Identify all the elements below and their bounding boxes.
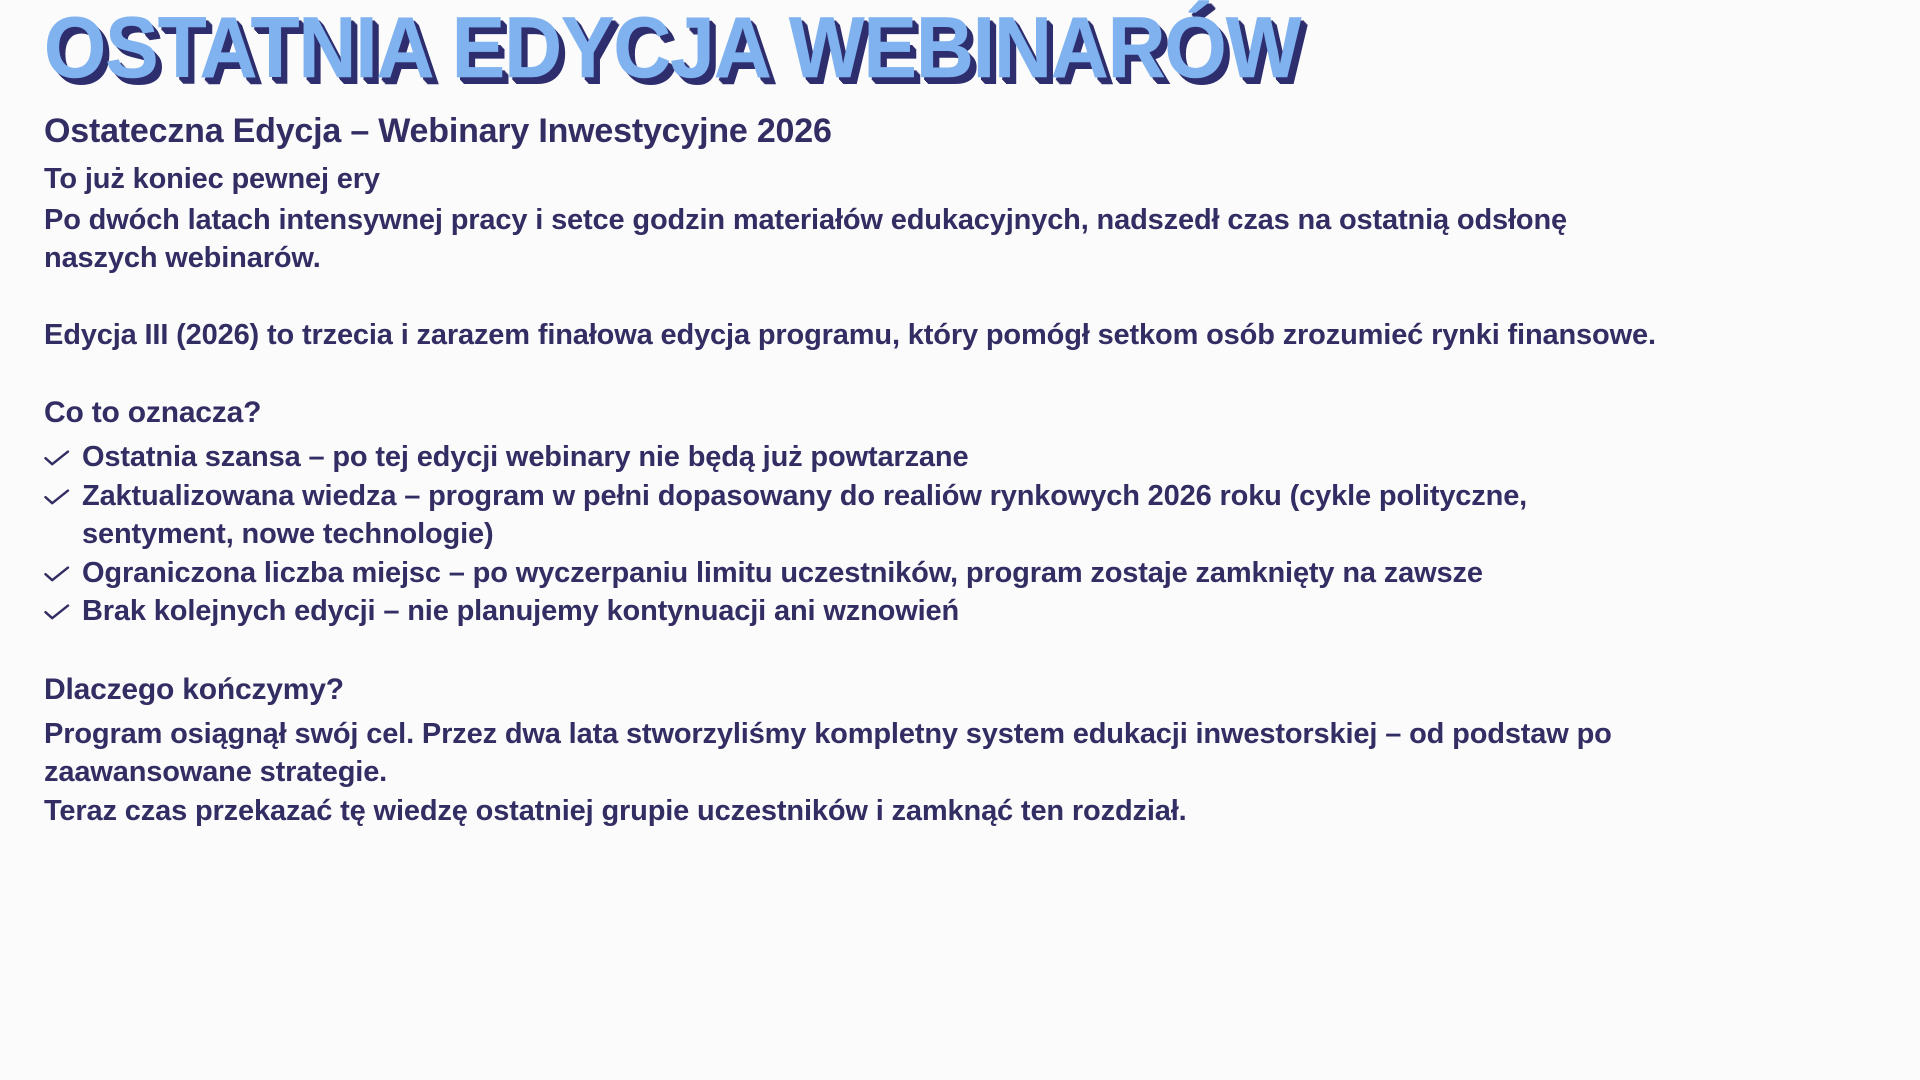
list-item: Brak kolejnych edycji – nie planujemy ko… xyxy=(44,592,1664,631)
check-icon xyxy=(44,439,74,466)
edition-paragraph: Edycja III (2026) to trzecia i zarazem f… xyxy=(44,316,1664,355)
subtitle: Ostateczna Edycja – Webinary Inwestycyjn… xyxy=(44,108,1664,154)
list-item-label: Ostatnia szansa – po tej edycji webinary… xyxy=(82,441,968,473)
page-root: OSTATNIA EDYCJA WEBINARÓW Ostateczna Edy… xyxy=(0,0,1920,1080)
benefits-list: Ostatnia szansa – po tej edycji webinary… xyxy=(44,438,1664,631)
check-icon xyxy=(44,478,74,505)
why-paragraph-1: Program osiągnął swój cel. Przez dwa lat… xyxy=(44,715,1664,792)
list-item-label: Ograniczona liczba miejsc – po wyczerpan… xyxy=(82,557,1483,589)
lead-line: To już koniec pewnej ery xyxy=(44,160,1664,199)
why-paragraph-2: Teraz czas przekazać tę wiedzę ostatniej… xyxy=(44,792,1664,831)
list-item: Zaktualizowana wiedza – program w pełni … xyxy=(44,477,1664,554)
check-icon xyxy=(44,593,74,620)
list-item-label: Zaktualizowana wiedza – program w pełni … xyxy=(82,480,1527,551)
why-heading: Dlaczego kończymy? xyxy=(44,669,1664,711)
paragraph-spacer xyxy=(44,631,1664,669)
page-title: OSTATNIA EDYCJA WEBINARÓW xyxy=(44,0,1789,100)
list-item-label: Brak kolejnych edycji – nie planujemy ko… xyxy=(82,595,959,627)
content-column: Ostateczna Edycja – Webinary Inwestycyjn… xyxy=(44,108,1664,830)
list-item: Ograniczona liczba miejsc – po wyczerpan… xyxy=(44,554,1664,593)
meaning-heading: Co to oznacza? xyxy=(44,392,1664,434)
paragraph-spacer xyxy=(44,354,1664,392)
check-icon xyxy=(44,555,74,582)
list-item: Ostatnia szansa – po tej edycji webinary… xyxy=(44,438,1664,477)
intro-paragraph: Po dwóch latach intensywnej pracy i setc… xyxy=(44,201,1664,278)
paragraph-spacer xyxy=(44,278,1664,316)
